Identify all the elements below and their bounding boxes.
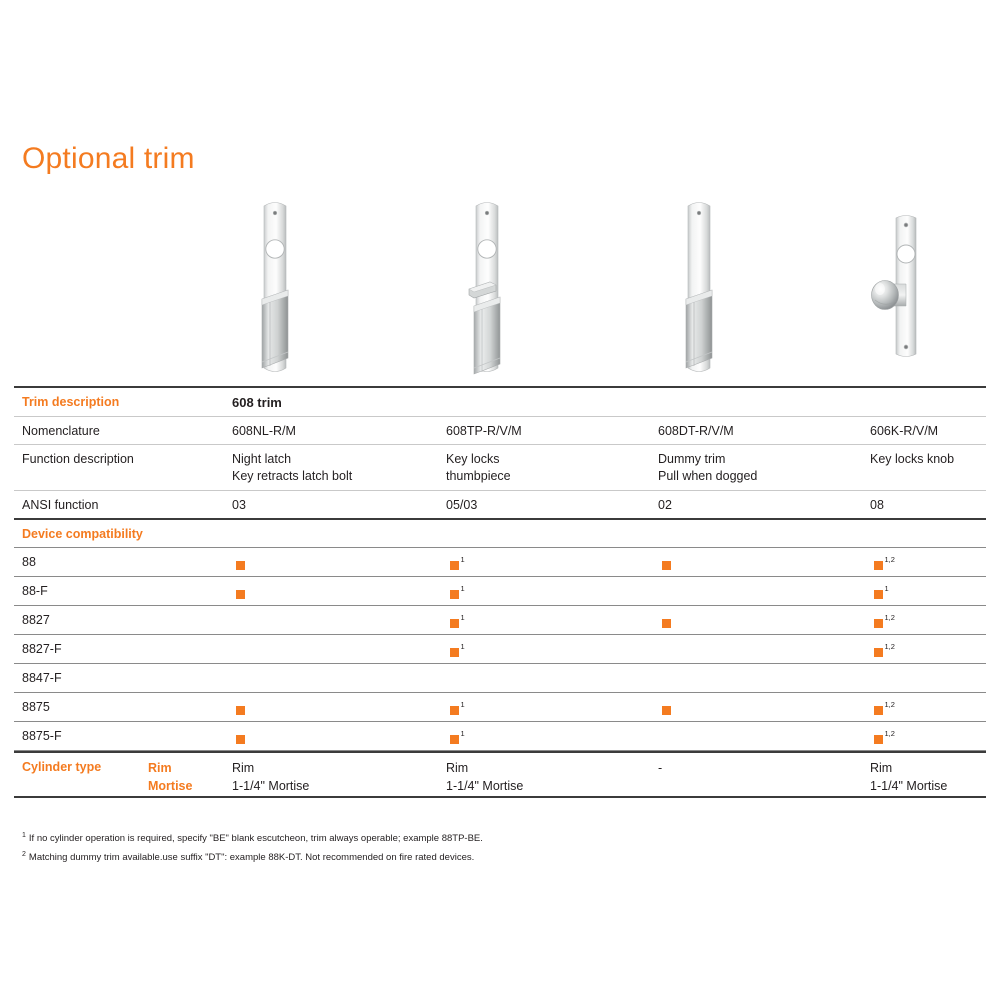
footnote-superscript: 1 xyxy=(461,643,465,651)
compatibility-square-icon xyxy=(236,735,245,744)
compatibility-marker: 1 xyxy=(450,557,465,575)
optional-trim-page: Optional trim xyxy=(0,0,1000,1000)
device-name: 8827 xyxy=(22,612,232,629)
product-image-thumbpiece xyxy=(384,192,596,388)
compatibility-square-icon xyxy=(874,561,883,570)
table-row-ansi-function: ANSI function 03 05/03 02 08 xyxy=(14,491,986,518)
footnote-superscript: 1,2 xyxy=(885,701,895,709)
row-label-function-description: Function description xyxy=(22,451,232,468)
cylinder-type-value-2: Rim 1-1/4" Mortise xyxy=(446,759,658,795)
compatibility-square-icon xyxy=(450,561,459,570)
footnote-marker: 1 xyxy=(22,832,26,839)
nomenclature-value-4: 606K-R/V/M xyxy=(870,423,1000,440)
table-bottom-rule xyxy=(14,796,986,798)
device-name: 88-F xyxy=(22,583,232,600)
nightlatch-trim-illustration xyxy=(248,192,308,388)
compatibility-square-icon xyxy=(450,590,459,599)
table-row-trim-description: Trim description 608 trim xyxy=(14,388,986,416)
footnote-item: 2Matching dummy trim available.use suffi… xyxy=(22,847,962,866)
function-description-value-3: Dummy trim Pull when dogged xyxy=(658,451,870,485)
table-row-cylinder-type: Cylinder type Rim Mortise Rim 1-1/4" Mor… xyxy=(14,753,986,796)
device-name: 8875 xyxy=(22,699,232,716)
function-description-value-2: Key locks thumbpiece xyxy=(446,451,658,485)
compatibility-marker: 1,2 xyxy=(874,731,895,749)
compatibility-marker: 1 xyxy=(874,586,889,604)
compatibility-square-icon xyxy=(236,706,245,715)
footnote-superscript: 1,2 xyxy=(885,643,895,651)
compatibility-marker xyxy=(236,557,245,575)
product-image-knob xyxy=(790,192,1000,388)
footnote-superscript: 1,2 xyxy=(885,730,895,738)
footnote-text: If no cylinder operation is required, sp… xyxy=(29,833,483,844)
compatibility-square-icon xyxy=(236,590,245,599)
section-header-device-compatibility: Device compatibility xyxy=(22,526,232,543)
compatibility-square-icon xyxy=(662,619,671,628)
compatibility-marker xyxy=(662,615,671,633)
device-compatibility-row: 887511,2 xyxy=(14,693,986,721)
optional-trim-table: Trim description 608 trim Nomenclature 6… xyxy=(14,386,986,798)
table-row-device-compatibility-header: Device compatibility xyxy=(14,520,986,547)
compatibility-marker: 1 xyxy=(450,644,465,662)
footnotes: 1If no cylinder operation is required, s… xyxy=(22,828,962,866)
ansi-function-value-1: 03 xyxy=(232,497,444,514)
footnote-superscript: 1 xyxy=(461,585,465,593)
device-name: 8847-F xyxy=(22,670,232,687)
page-title: Optional trim xyxy=(22,142,195,175)
compatibility-marker: 1 xyxy=(450,615,465,633)
cylinder-type-sublabels: Rim Mortise xyxy=(148,759,192,795)
row-label-cylinder-type: Cylinder type xyxy=(22,759,232,776)
device-name: 88 xyxy=(22,554,232,571)
device-name: 8875-F xyxy=(22,728,232,745)
compatibility-square-icon xyxy=(662,561,671,570)
cylinder-type-value-1: Rim 1-1/4" Mortise xyxy=(232,759,444,795)
compatibility-square-icon xyxy=(236,561,245,570)
table-row-function-description: Function description Night latch Key ret… xyxy=(14,445,986,490)
compatibility-marker: 1 xyxy=(450,731,465,749)
product-image-strip xyxy=(0,192,1000,388)
ansi-function-value-3: 02 xyxy=(658,497,870,514)
dummy-trim-illustration xyxy=(672,192,732,388)
compatibility-square-icon xyxy=(662,706,671,715)
row-label-ansi-function: ANSI function xyxy=(22,497,232,514)
compatibility-square-icon xyxy=(874,706,883,715)
footnote-marker: 2 xyxy=(22,851,26,858)
thumbpiece-trim-illustration xyxy=(460,192,520,388)
function-description-value-1: Night latch Key retracts latch bolt xyxy=(232,451,444,485)
cylinder-type-value-4: Rim 1-1/4" Mortise xyxy=(870,759,1000,795)
compatibility-marker xyxy=(236,702,245,720)
knob-trim-illustration xyxy=(856,192,936,388)
compatibility-square-icon xyxy=(874,619,883,628)
footnote-text: Matching dummy trim available.use suffix… xyxy=(29,852,474,863)
device-compatibility-row: 8811,2 xyxy=(14,548,986,576)
footnote-superscript: 1 xyxy=(461,701,465,709)
product-image-dummy xyxy=(596,192,808,388)
compatibility-marker: 1,2 xyxy=(874,615,895,633)
device-compatibility-row: 88-F11 xyxy=(14,577,986,605)
cylinder-type-value-3: - xyxy=(658,759,870,777)
footnote-superscript: 1 xyxy=(461,556,465,564)
trim-description-value: 608 trim xyxy=(232,394,444,411)
table-row-nomenclature: Nomenclature 608NL-R/M 608TP-R/V/M 608DT… xyxy=(14,417,986,444)
compatibility-marker xyxy=(662,557,671,575)
compatibility-square-icon xyxy=(450,706,459,715)
compatibility-square-icon xyxy=(874,648,883,657)
device-compatibility-row: 8827-F11,2 xyxy=(14,635,986,663)
compatibility-marker xyxy=(236,731,245,749)
footnote-superscript: 1 xyxy=(885,585,889,593)
row-label-trim-description: Trim description xyxy=(22,394,232,411)
nomenclature-value-2: 608TP-R/V/M xyxy=(446,423,658,440)
footnote-superscript: 1,2 xyxy=(885,614,895,622)
device-compatibility-row: 8875-F11,2 xyxy=(14,722,986,750)
compatibility-marker: 1,2 xyxy=(874,644,895,662)
footnote-item: 1If no cylinder operation is required, s… xyxy=(22,828,962,847)
device-name: 8827-F xyxy=(22,641,232,658)
compatibility-square-icon xyxy=(874,590,883,599)
compatibility-marker: 1 xyxy=(450,702,465,720)
compatibility-square-icon xyxy=(450,619,459,628)
row-label-nomenclature: Nomenclature xyxy=(22,423,232,440)
device-compatibility-row: 8847-F xyxy=(14,664,986,692)
device-compatibility-row: 882711,2 xyxy=(14,606,986,634)
compatibility-marker: 1,2 xyxy=(874,702,895,720)
compatibility-marker: 1 xyxy=(450,586,465,604)
device-compatibility-rows: 8811,288-F11882711,28827-F11,28847-F8875… xyxy=(14,548,986,751)
compatibility-square-icon xyxy=(450,648,459,657)
footnote-superscript: 1,2 xyxy=(885,556,895,564)
product-image-nightlatch xyxy=(172,192,384,388)
nomenclature-value-3: 608DT-R/V/M xyxy=(658,423,870,440)
nomenclature-value-1: 608NL-R/M xyxy=(232,423,444,440)
compatibility-marker: 1,2 xyxy=(874,557,895,575)
compatibility-square-icon xyxy=(874,735,883,744)
compatibility-square-icon xyxy=(450,735,459,744)
footnote-superscript: 1 xyxy=(461,730,465,738)
compatibility-marker xyxy=(236,586,245,604)
footnote-superscript: 1 xyxy=(461,614,465,622)
ansi-function-value-4: 08 xyxy=(870,497,1000,514)
function-description-value-4: Key locks knob xyxy=(870,451,1000,468)
ansi-function-value-2: 05/03 xyxy=(446,497,658,514)
compatibility-marker xyxy=(662,702,671,720)
